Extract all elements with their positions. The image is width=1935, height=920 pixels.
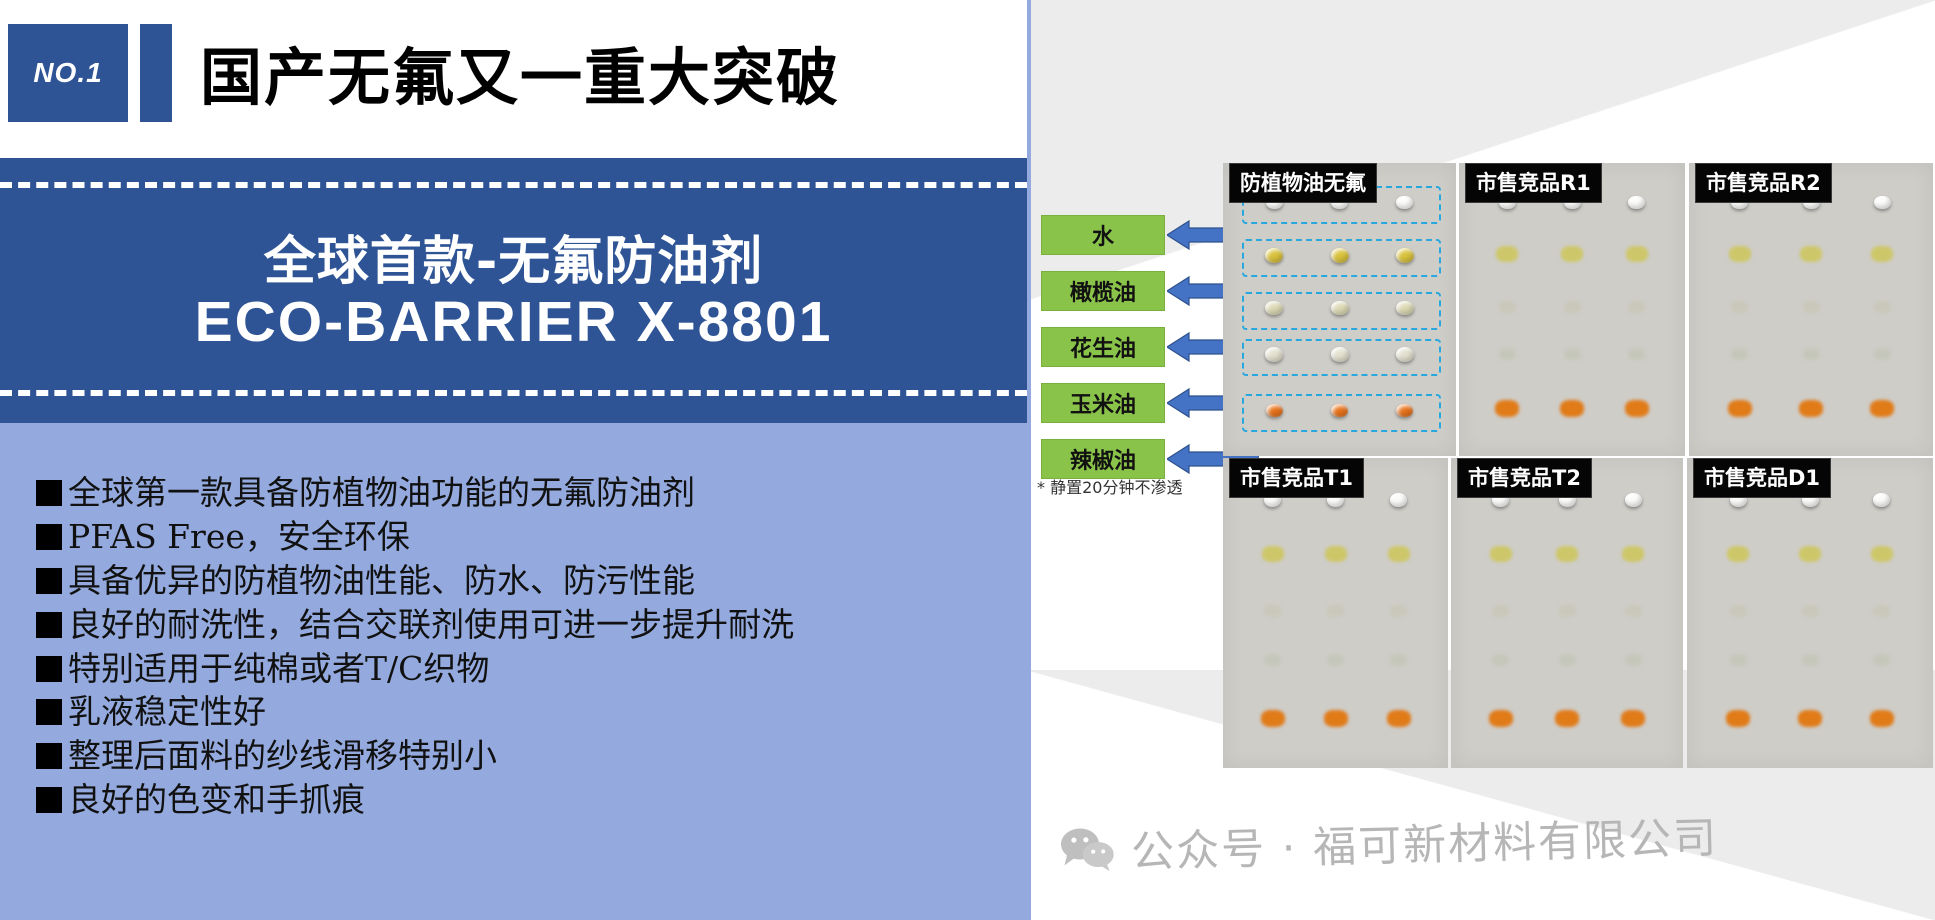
legend-row: 橄榄油 bbox=[1041, 271, 1176, 327]
test-droplet bbox=[1871, 246, 1893, 262]
test-droplet bbox=[1564, 301, 1581, 313]
photo-caption: 市售竞品T2 bbox=[1457, 458, 1592, 498]
test-droplet bbox=[1802, 654, 1819, 666]
photo-caption: 市售竞品R1 bbox=[1465, 163, 1602, 203]
left-column: NO.1 国产无氟又一重大突破 全球首款-无氟防油剂 ECO-BARRIER X… bbox=[0, 0, 1027, 920]
test-droplet bbox=[1730, 605, 1747, 617]
test-droplet bbox=[1324, 710, 1348, 727]
test-photo-panel: 市售竞品R2 bbox=[1689, 163, 1933, 456]
test-droplet bbox=[1621, 710, 1645, 727]
legend-chip-peanut-oil: 花生油 bbox=[1041, 327, 1165, 367]
test-droplet bbox=[1396, 404, 1413, 418]
square-bullet-icon bbox=[36, 787, 62, 813]
test-droplet bbox=[1265, 301, 1283, 316]
banner-text-block: 全球首款-无氟防油剂 ECO-BARRIER X-8801 bbox=[0, 204, 1027, 384]
test-droplet bbox=[1495, 400, 1519, 417]
list-item: 全球第一款具备防植物油功能的无氟防油剂 bbox=[0, 471, 1027, 515]
watermark-text: 公众号 · 福可新材料有限公司 bbox=[1130, 803, 1718, 879]
test-droplet bbox=[1492, 605, 1509, 617]
test-photo-panel: 市售竞品T1 bbox=[1223, 458, 1448, 768]
test-droplet bbox=[1870, 400, 1894, 417]
test-droplet bbox=[1628, 348, 1645, 360]
photo-caption: 防植物油无氟 bbox=[1229, 163, 1377, 203]
list-item: PFAS Free，安全环保 bbox=[0, 515, 1027, 559]
test-photo-panel: 市售竞品R1 bbox=[1459, 163, 1685, 456]
legend-row: 水 bbox=[1041, 215, 1176, 271]
test-droplet bbox=[1396, 196, 1413, 210]
square-bullet-icon bbox=[36, 699, 62, 725]
list-item: 良好的色变和手抓痕 bbox=[0, 778, 1027, 822]
test-droplet bbox=[1626, 246, 1648, 262]
page-title: 国产无氟又一重大突破 bbox=[200, 20, 1000, 124]
test-droplet bbox=[1799, 400, 1823, 417]
test-droplet bbox=[1264, 654, 1281, 666]
test-droplet bbox=[1390, 654, 1407, 666]
slide-canvas: NO.1 国产无氟又一重大突破 全球首款-无氟防油剂 ECO-BARRIER X… bbox=[0, 0, 1935, 920]
list-item-label: 乳液稳定性好 bbox=[68, 690, 266, 734]
square-bullet-icon bbox=[36, 743, 62, 769]
legend-chip-olive-oil: 橄榄油 bbox=[1041, 271, 1165, 311]
test-droplet bbox=[1327, 654, 1344, 666]
test-droplet bbox=[1798, 710, 1822, 727]
list-item-label: 全球第一款具备防植物油功能的无氟防油剂 bbox=[68, 471, 695, 515]
photo-caption: 市售竞品T1 bbox=[1229, 458, 1364, 498]
test-droplet bbox=[1264, 605, 1281, 617]
photo-caption: 市售竞品R2 bbox=[1695, 163, 1832, 203]
test-droplet bbox=[1871, 546, 1893, 562]
test-photo-panel: 市售竞品T2 bbox=[1451, 458, 1683, 768]
legend-chip-water: 水 bbox=[1041, 215, 1165, 255]
right-column: 水 橄榄油 花生油 玉米油 bbox=[1027, 0, 1935, 920]
test-droplet bbox=[1874, 301, 1891, 313]
test-droplet bbox=[1559, 654, 1576, 666]
test-droplet bbox=[1800, 246, 1822, 262]
test-droplet bbox=[1564, 348, 1581, 360]
test-droplet bbox=[1561, 246, 1583, 262]
legend-row: 花生油 bbox=[1041, 327, 1176, 383]
banner-subtitle: 全球首款-无氟防油剂 bbox=[264, 233, 764, 291]
test-droplet bbox=[1802, 605, 1819, 617]
test-droplet bbox=[1266, 404, 1283, 418]
list-item: 良好的耐洗性，结合交联剂使用可进一步提升耐洗 bbox=[0, 603, 1027, 647]
test-droplet bbox=[1499, 301, 1516, 313]
test-droplet bbox=[1730, 654, 1747, 666]
square-bullet-icon bbox=[36, 480, 62, 506]
banner-product-name: ECO-BARRIER X-8801 bbox=[195, 291, 833, 355]
test-liquid-legend: 水 橄榄油 花生油 玉米油 bbox=[1041, 215, 1176, 495]
test-droplet bbox=[1490, 546, 1512, 562]
test-droplet bbox=[1727, 546, 1749, 562]
test-photo-panel: 市售竞品D1 bbox=[1687, 458, 1933, 768]
footnote-text: * 静置20分钟不渗透 bbox=[1037, 474, 1247, 498]
test-droplet bbox=[1325, 546, 1347, 562]
test-droplet bbox=[1873, 605, 1890, 617]
list-item-label: 良好的色变和手抓痕 bbox=[68, 778, 365, 822]
test-droplet bbox=[1387, 710, 1411, 727]
list-item-label: 具备优异的防植物油性能、防水、防污性能 bbox=[68, 559, 695, 603]
test-droplet bbox=[1331, 347, 1349, 362]
slide-header: NO.1 国产无氟又一重大突破 bbox=[0, 0, 1027, 158]
list-item-label: PFAS Free，安全环保 bbox=[68, 515, 410, 559]
list-item-label: 整理后面料的纱线滑移特别小 bbox=[68, 734, 497, 778]
photo-caption: 市售竞品D1 bbox=[1693, 458, 1831, 498]
test-droplet bbox=[1331, 301, 1349, 316]
test-droplet bbox=[1262, 546, 1284, 562]
list-item: 具备优异的防植物油性能、防水、防污性能 bbox=[0, 559, 1027, 603]
banner-dashed-divider-bottom bbox=[0, 390, 1027, 396]
test-droplet bbox=[1396, 301, 1414, 316]
test-droplet bbox=[1874, 348, 1891, 360]
test-droplet bbox=[1327, 605, 1344, 617]
test-droplet bbox=[1873, 654, 1890, 666]
square-bullet-icon bbox=[36, 524, 62, 550]
list-item-label: 良好的耐洗性，结合交联剂使用可进一步提升耐洗 bbox=[68, 603, 794, 647]
legend-chip-chili-oil: 辣椒油 bbox=[1041, 439, 1165, 479]
test-droplet bbox=[1799, 546, 1821, 562]
test-droplet bbox=[1559, 605, 1576, 617]
test-droplet bbox=[1388, 546, 1410, 562]
test-droplet bbox=[1628, 301, 1645, 313]
square-bullet-icon bbox=[36, 612, 62, 638]
test-droplet bbox=[1803, 301, 1820, 313]
test-photo-panel: 防植物油无氟 bbox=[1223, 163, 1456, 456]
test-droplet bbox=[1628, 196, 1645, 210]
banner-dashed-divider-top bbox=[0, 182, 1027, 188]
test-droplet bbox=[1396, 347, 1414, 362]
test-droplet bbox=[1728, 400, 1752, 417]
test-droplet bbox=[1625, 605, 1642, 617]
list-item: 整理后面料的纱线滑移特别小 bbox=[0, 734, 1027, 778]
test-droplet bbox=[1729, 246, 1751, 262]
test-droplet bbox=[1625, 654, 1642, 666]
legend-chip-corn-oil: 玉米油 bbox=[1041, 383, 1165, 423]
test-droplet bbox=[1803, 348, 1820, 360]
badge-accent-bar bbox=[140, 24, 172, 122]
test-droplet bbox=[1560, 400, 1584, 417]
test-droplet bbox=[1265, 248, 1283, 263]
number-badge: NO.1 bbox=[8, 24, 128, 122]
product-banner: 全球首款-无氟防油剂 ECO-BARRIER X-8801 bbox=[0, 158, 1027, 423]
test-droplet bbox=[1489, 710, 1513, 727]
square-bullet-icon bbox=[36, 568, 62, 594]
test-droplet bbox=[1496, 246, 1518, 262]
test-droplet bbox=[1874, 196, 1891, 210]
wechat-icon bbox=[1059, 826, 1118, 873]
column-edge-line bbox=[1027, 0, 1031, 920]
test-droplet bbox=[1261, 710, 1285, 727]
test-droplet bbox=[1331, 404, 1348, 418]
test-droplet bbox=[1625, 493, 1642, 507]
test-droplet bbox=[1390, 605, 1407, 617]
test-droplet bbox=[1555, 710, 1579, 727]
square-bullet-icon bbox=[36, 656, 62, 682]
test-droplet bbox=[1390, 493, 1407, 507]
list-item: 乳液稳定性好 bbox=[0, 690, 1027, 734]
test-droplet bbox=[1331, 248, 1349, 263]
list-item: 特别适用于纯棉或者T/C织物 bbox=[0, 647, 1027, 691]
test-droplet bbox=[1396, 248, 1414, 263]
test-droplet bbox=[1731, 348, 1748, 360]
test-droplet bbox=[1873, 493, 1890, 507]
test-droplet bbox=[1492, 654, 1509, 666]
test-droplet bbox=[1622, 546, 1644, 562]
test-droplet bbox=[1726, 710, 1750, 727]
test-droplet bbox=[1265, 347, 1283, 362]
test-droplet bbox=[1556, 546, 1578, 562]
test-droplet bbox=[1499, 348, 1516, 360]
test-droplet bbox=[1731, 301, 1748, 313]
legend-row: 玉米油 bbox=[1041, 383, 1176, 439]
test-droplet bbox=[1870, 710, 1894, 727]
test-droplet bbox=[1625, 400, 1649, 417]
feature-list: 全球第一款具备防植物油功能的无氟防油剂 PFAS Free，安全环保 具备优异的… bbox=[0, 423, 1027, 920]
list-item-label: 特别适用于纯棉或者T/C织物 bbox=[68, 647, 489, 691]
